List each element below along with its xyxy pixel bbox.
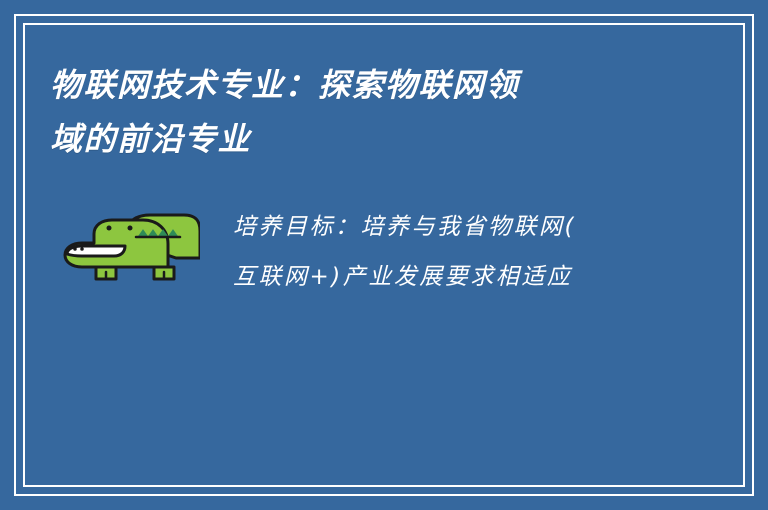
body-line-1: 培养目标：培养与我省物联网( xyxy=(233,202,708,252)
crocodile-icon xyxy=(50,204,200,284)
crocodile-body xyxy=(65,220,168,267)
headline-line-2: 域的前沿专业 xyxy=(50,112,690,166)
body-line-2: 互联网+)产业发展要求相适应 xyxy=(233,252,708,302)
poster-canvas: 物联网技术专业：探索物联网领 域的前沿专业 xyxy=(0,0,768,510)
body-text-block: 培养目标：培养与我省物联网( 互联网+)产业发展要求相适应 xyxy=(215,196,708,302)
crocodile-illustration xyxy=(50,196,215,284)
headline-block: 物联网技术专业：探索物联网领 域的前沿专业 xyxy=(50,58,690,166)
body-block: 培养目标：培养与我省物联网( 互联网+)产业发展要求相适应 xyxy=(50,196,708,302)
headline-line-1: 物联网技术专业：探索物联网领 xyxy=(50,58,690,112)
